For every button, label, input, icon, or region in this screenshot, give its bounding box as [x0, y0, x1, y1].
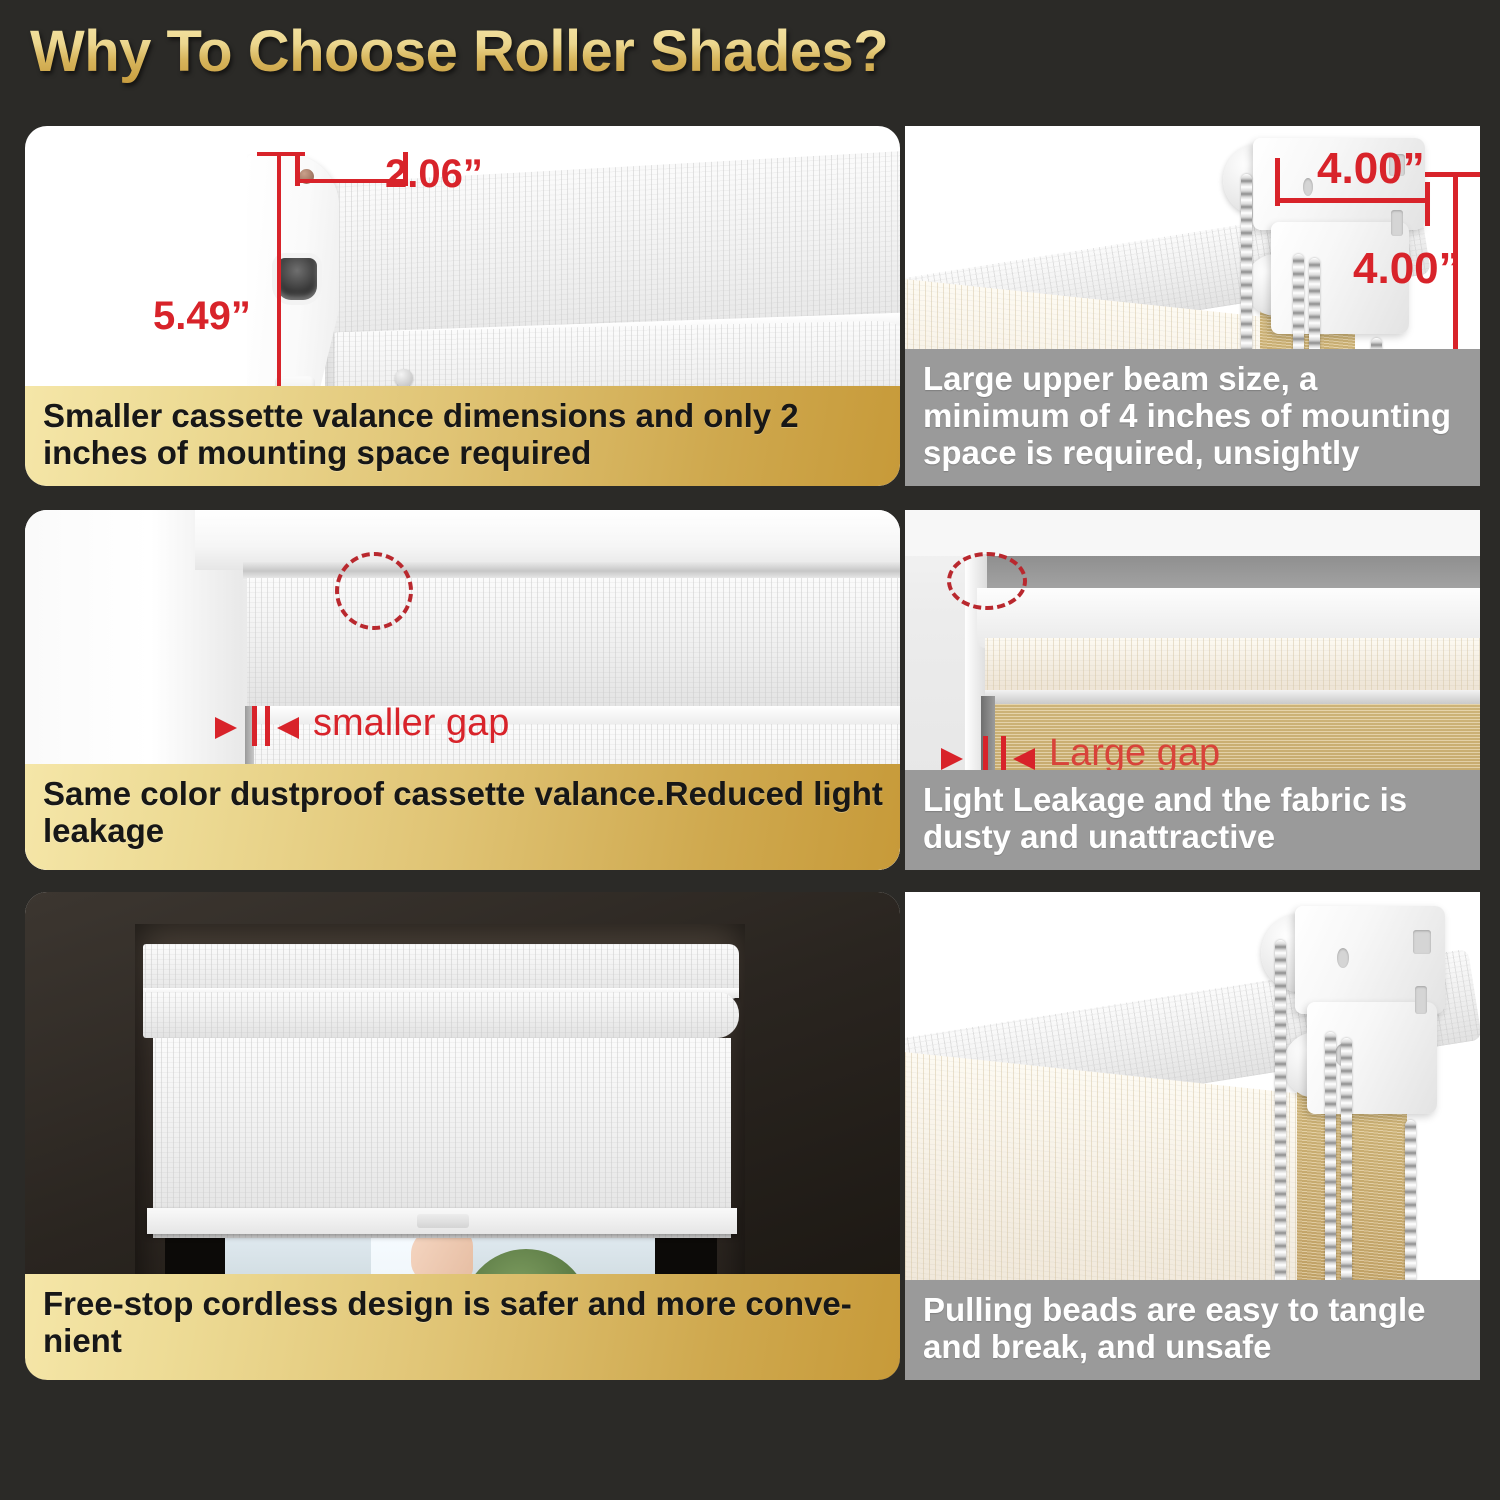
page-title: Why To Choose Roller Shades?	[30, 18, 888, 85]
gap-arrow-left-icon	[215, 717, 237, 739]
panel-caption: Smaller cassette valance dimensions and …	[25, 386, 900, 486]
ceiling-strip	[905, 510, 1480, 556]
highlight-circle-icon	[947, 552, 1027, 610]
width-dimension-label: 2.06”	[385, 152, 483, 197]
panel-bad-beads: Pulling beads are easy to tangle and bre…	[905, 892, 1480, 1380]
gap-tick-left	[983, 736, 988, 774]
width-dimension-line	[1277, 198, 1429, 203]
beam-fabric-wrap	[985, 638, 1480, 696]
gap-tick-right	[1001, 736, 1006, 774]
width-dimension-tick-left	[295, 152, 300, 186]
end-cap-port	[277, 258, 317, 300]
height-dimension-label: 4.00”	[1353, 244, 1461, 294]
bracket-slot-b	[1415, 986, 1427, 1014]
beam-bottom-lip	[985, 690, 1480, 704]
panel-caption: Pulling beads are easy to tangle and bre…	[905, 1280, 1480, 1380]
bracket-slot-c	[1303, 178, 1313, 196]
height-dimension-label: 5.49”	[153, 294, 251, 339]
width-dimension-label: 4.00”	[1317, 144, 1425, 194]
gap-tick-left	[252, 706, 257, 746]
bracket-slot-b	[1391, 210, 1403, 236]
infographic-page: Why To Choose Roller Shades? 2.06” 5.49”…	[0, 0, 1500, 1500]
window-frame-top	[195, 510, 900, 570]
panel-caption: Free-stop cordless design is safer and m…	[25, 1274, 900, 1380]
gap-callout-label: Large gap	[1049, 732, 1220, 775]
height-dimension-tick-top	[1425, 172, 1480, 177]
highlight-circle-icon	[335, 552, 413, 630]
bracket-slot-c	[1337, 948, 1349, 968]
panel-bad-beam-size: 4.00” 4.00” Large upper beam size, a min…	[905, 126, 1480, 486]
panel-caption: Same color dustproof cassette valance.Re…	[25, 764, 900, 870]
gap-tick-right	[265, 706, 270, 746]
panel-good-cordless: Free-stop cordless design is safer and m…	[25, 892, 900, 1380]
panel-good-small-gap: smaller gap Same color dustproof cassett…	[25, 510, 900, 870]
end-cap-screw-mid	[395, 369, 413, 387]
shade-roll	[143, 992, 739, 1038]
gap-arrow-right-icon	[277, 717, 299, 739]
panel-caption: Large upper beam size, a minimum of 4 in…	[905, 349, 1480, 486]
gap-arrow-left-icon	[941, 748, 963, 770]
panel-caption: Light Leakage and the fabric is dusty an…	[905, 770, 1480, 870]
height-dimension-tick-top	[257, 152, 305, 156]
gap-arrow-right-icon	[1013, 748, 1035, 770]
width-dimension-tick-right	[1425, 182, 1430, 226]
width-dimension-tick-left	[1275, 158, 1280, 206]
panel-good-cassette-size: 2.06” 5.49” Smaller cassette valance dim…	[25, 126, 900, 486]
panel-bad-large-gap: Large gap Light Leakage and the fabric i…	[905, 510, 1480, 870]
bracket-slot-a	[1413, 930, 1431, 954]
bottom-bar-grip	[417, 1214, 469, 1228]
gap-callout-label: smaller gap	[313, 702, 509, 745]
